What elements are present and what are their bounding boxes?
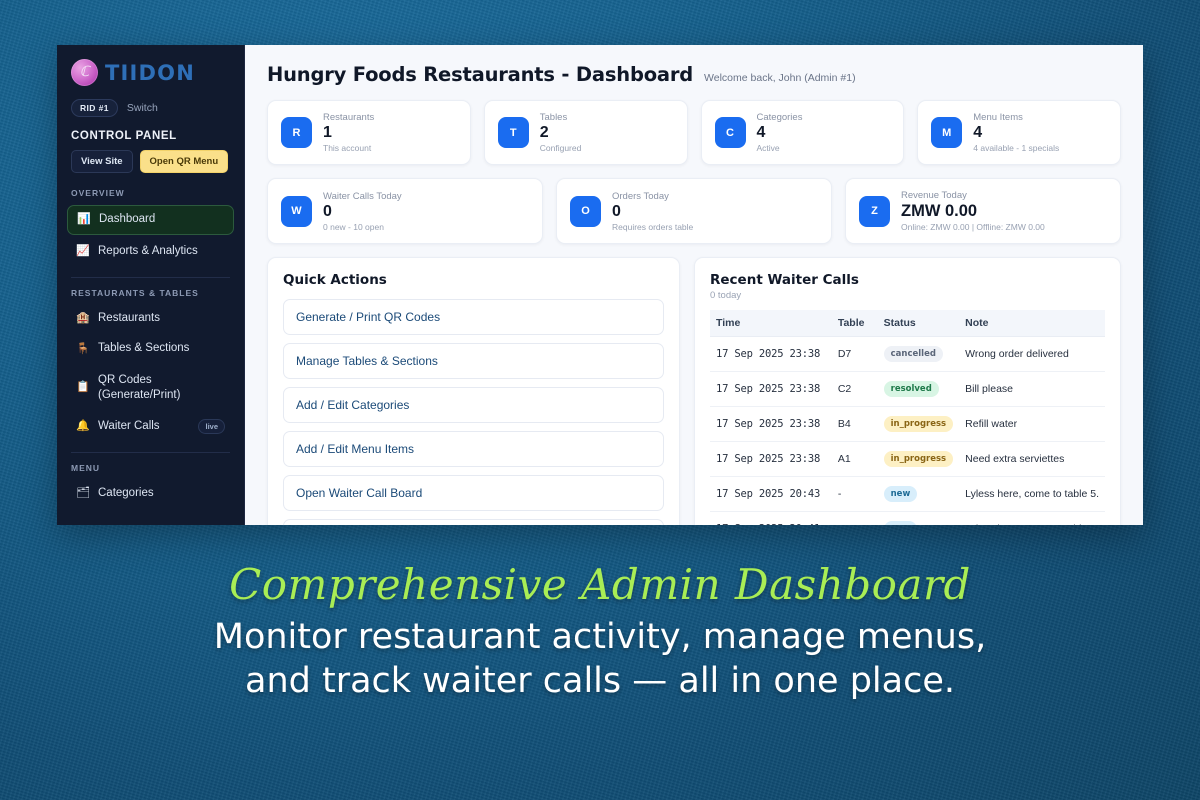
table-icon: 🪑 (76, 343, 90, 356)
quick-actions-title: Quick Actions (283, 272, 664, 288)
stat-value: 1 (323, 124, 374, 142)
table-row[interactable]: 17 Sep 2025 20:41 - new Lyless here, com… (710, 512, 1105, 525)
stat-label: Tables (540, 112, 582, 123)
page-header: Hungry Foods Restaurants - Dashboard Wel… (267, 63, 1121, 86)
action-manage-tables-sections[interactable]: Manage Tables & Sections (283, 343, 664, 379)
open-qr-menu-button[interactable]: Open QR Menu (140, 150, 229, 173)
stat-hint: This account (323, 143, 374, 153)
cell-status: new (878, 512, 960, 525)
stat-hint: 0 new - 10 open (323, 222, 402, 232)
cell-table: - (832, 512, 878, 525)
stat-badge-icon: Z (859, 196, 890, 227)
status-badge: in_progress (884, 451, 954, 467)
switch-link[interactable]: Switch (127, 102, 158, 114)
welcome-text: Welcome back, John (Admin #1) (704, 72, 856, 84)
sidebar-item-label: Dashboard (99, 213, 224, 227)
stat-label: Restaurants (323, 112, 374, 123)
control-panel-title: CONTROL PANEL (57, 130, 244, 142)
stat-label: Revenue Today (901, 190, 1045, 201)
sidebar-item-qr-codes[interactable]: 📋 QR Codes (Generate/Print) (67, 366, 234, 409)
cell-table: B4 (832, 407, 878, 442)
cell-note: Lyless here, come to table 5. (959, 477, 1105, 512)
cell-time: 17 Sep 2025 23:38 (710, 372, 832, 407)
caption-headline: Comprehensive Admin Dashboard (0, 560, 1200, 609)
column-header-table[interactable]: Table (832, 310, 878, 337)
stat-value: 4 (973, 124, 1059, 142)
stat-badge-icon: R (281, 117, 312, 148)
sidebar-item-tables-sections[interactable]: 🪑 Tables & Sections (67, 335, 234, 363)
bell-icon: 🔔 (76, 420, 90, 433)
stat-value: ZMW 0.00 (901, 202, 1045, 221)
column-header-note[interactable]: Note (959, 310, 1105, 337)
sidebar-button-row: View Site Open QR Menu (57, 150, 244, 173)
recent-calls-table: Time Table Status Note 17 Sep 2025 23:38… (710, 310, 1105, 525)
page-title: Hungry Foods Restaurants - Dashboard (267, 63, 693, 86)
stat-card-waiter-calls-today[interactable]: W Waiter Calls Today 0 0 new - 10 open (267, 178, 543, 244)
bottom-panels: Quick Actions Generate / Print QR Codes … (267, 257, 1121, 525)
sidebar-item-label: Waiter Calls (98, 420, 190, 434)
action-open-waiter-call-board[interactable]: Open Waiter Call Board (283, 475, 664, 511)
cell-time: 17 Sep 2025 23:38 (710, 337, 832, 372)
stat-badge-icon: T (498, 117, 529, 148)
status-badge: new (884, 486, 918, 502)
caption-line-2: and track waiter calls — all in one plac… (0, 659, 1200, 703)
section-label-menu: MENU (57, 463, 244, 473)
cell-table: C2 (832, 372, 878, 407)
stats-row-1: R Restaurants 1 This account T Tables 2 … (267, 100, 1121, 165)
cell-table: - (832, 477, 878, 512)
stat-hint: Requires orders table (612, 222, 693, 232)
qr-code-icon: 📋 (76, 381, 90, 394)
cell-status: cancelled (878, 337, 960, 372)
app-window: ℂ TIIDON RID #1 Switch CONTROL PANEL Vie… (57, 45, 1143, 525)
cell-table: D7 (832, 337, 878, 372)
column-header-status[interactable]: Status (878, 310, 960, 337)
sidebar-item-label: Restaurants (98, 312, 225, 326)
folder-icon: 🗂 (76, 487, 90, 500)
stat-card-menu-items[interactable]: M Menu Items 4 4 available - 1 specials (917, 100, 1121, 165)
cell-note: Lyless here, come to table 5. (959, 512, 1105, 525)
sidebar-item-label: Tables & Sections (98, 342, 225, 356)
cell-time: 17 Sep 2025 20:43 (710, 477, 832, 512)
table-row[interactable]: 17 Sep 2025 23:38 B4 in_progress Refill … (710, 407, 1105, 442)
status-badge: cancelled (884, 346, 943, 362)
sidebar-item-label: QR Codes (Generate/Print) (98, 373, 225, 402)
table-row[interactable]: 17 Sep 2025 23:38 C2 resolved Bill pleas… (710, 372, 1105, 407)
brand[interactable]: ℂ TIIDON (57, 59, 244, 86)
table-row[interactable]: 17 Sep 2025 23:38 A1 in_progress Need ex… (710, 442, 1105, 477)
divider (71, 277, 230, 278)
divider (71, 452, 230, 453)
stat-label: Menu Items (973, 112, 1059, 123)
sidebar: ℂ TIIDON RID #1 Switch CONTROL PANEL Vie… (57, 45, 245, 525)
stat-card-tables[interactable]: T Tables 2 Configured (484, 100, 688, 165)
stat-badge-icon: W (281, 196, 312, 227)
rid-badge: RID #1 (71, 99, 118, 117)
action-add-edit-categories[interactable]: Add / Edit Categories (283, 387, 664, 423)
cell-status: in_progress (878, 442, 960, 477)
stat-label: Orders Today (612, 191, 693, 202)
stat-hint: Online: ZMW 0.00 | Offline: ZMW 0.00 (901, 222, 1045, 232)
restaurant-id-row: RID #1 Switch (57, 99, 244, 117)
stat-card-restaurants[interactable]: R Restaurants 1 This account (267, 100, 471, 165)
action-view-qr-menu[interactable]: View QR Menu (283, 519, 664, 525)
cell-note: Wrong order delivered (959, 337, 1105, 372)
status-badge: new (884, 521, 918, 525)
section-label-restaurants-tables: RESTAURANTS & TABLES (57, 288, 244, 298)
cell-status: in_progress (878, 407, 960, 442)
sidebar-item-categories[interactable]: 🗂 Categories (67, 480, 234, 508)
cell-note: Refill water (959, 407, 1105, 442)
status-badge: resolved (884, 381, 939, 397)
sidebar-item-dashboard[interactable]: 📊 Dashboard (67, 205, 234, 235)
section-label-overview: OVERVIEW (57, 188, 244, 198)
stat-badge-icon: M (931, 117, 962, 148)
stat-value: 4 (757, 124, 803, 142)
view-site-button[interactable]: View Site (71, 150, 133, 173)
table-row[interactable]: 17 Sep 2025 23:38 D7 cancelled Wrong ord… (710, 337, 1105, 372)
tiidon-logo-icon: ℂ (71, 59, 98, 86)
table-row[interactable]: 17 Sep 2025 20:43 - new Lyless here, com… (710, 477, 1105, 512)
column-header-time[interactable]: Time (710, 310, 832, 337)
brand-name: TIIDON (105, 61, 195, 85)
stat-card-categories[interactable]: C Categories 4 Active (701, 100, 905, 165)
sidebar-item-reports[interactable]: 📈 Reports & Analytics (67, 238, 234, 266)
stat-value: 2 (540, 124, 582, 142)
stat-value: 0 (323, 203, 402, 221)
chart-icon: 📊 (77, 213, 91, 226)
stat-hint: Active (757, 143, 803, 153)
promo-canvas: ℂ TIIDON RID #1 Switch CONTROL PANEL Vie… (0, 0, 1200, 800)
stats-row-2: W Waiter Calls Today 0 0 new - 10 open O… (267, 178, 1121, 244)
stat-value: 0 (612, 203, 693, 221)
status-badge: in_progress (884, 416, 954, 432)
cell-note: Need extra serviettes (959, 442, 1105, 477)
stat-hint: 4 available - 1 specials (973, 143, 1059, 153)
sidebar-item-restaurants[interactable]: 🏨 Restaurants (67, 305, 234, 333)
cell-note: Bill please (959, 372, 1105, 407)
live-badge: live (198, 419, 225, 434)
action-generate-print-qr-codes[interactable]: Generate / Print QR Codes (283, 299, 664, 335)
cell-status: resolved (878, 372, 960, 407)
quick-actions-panel: Quick Actions Generate / Print QR Codes … (267, 257, 680, 525)
cell-table: A1 (832, 442, 878, 477)
sidebar-item-waiter-calls[interactable]: 🔔 Waiter Calls live (67, 412, 234, 441)
promo-caption: Comprehensive Admin Dashboard Monitor re… (0, 560, 1200, 703)
cell-time: 17 Sep 2025 23:38 (710, 407, 832, 442)
main-content: Hungry Foods Restaurants - Dashboard Wel… (245, 45, 1143, 525)
cell-time: 17 Sep 2025 23:38 (710, 442, 832, 477)
cell-status: new (878, 477, 960, 512)
stat-hint: Configured (540, 143, 582, 153)
stat-card-revenue-today[interactable]: Z Revenue Today ZMW 0.00 Online: ZMW 0.0… (845, 178, 1121, 244)
reports-icon: 📈 (76, 245, 90, 258)
stat-badge-icon: O (570, 196, 601, 227)
recent-calls-title: Recent Waiter Calls (710, 272, 1105, 288)
cell-time: 17 Sep 2025 20:41 (710, 512, 832, 525)
recent-waiter-calls-panel: Recent Waiter Calls 0 today Time Table S… (694, 257, 1121, 525)
recent-calls-subtitle: 0 today (710, 290, 1105, 301)
sidebar-item-label: Reports & Analytics (98, 245, 225, 259)
stat-card-orders-today[interactable]: O Orders Today 0 Requires orders table (556, 178, 832, 244)
caption-line-1: Monitor restaurant activity, manage menu… (0, 615, 1200, 659)
action-add-edit-menu-items[interactable]: Add / Edit Menu Items (283, 431, 664, 467)
stat-badge-icon: C (715, 117, 746, 148)
stat-label: Waiter Calls Today (323, 191, 402, 202)
sidebar-item-label: Categories (98, 487, 225, 501)
restaurant-icon: 🏨 (76, 312, 90, 325)
table-header-row: Time Table Status Note (710, 310, 1105, 337)
stat-label: Categories (757, 112, 803, 123)
